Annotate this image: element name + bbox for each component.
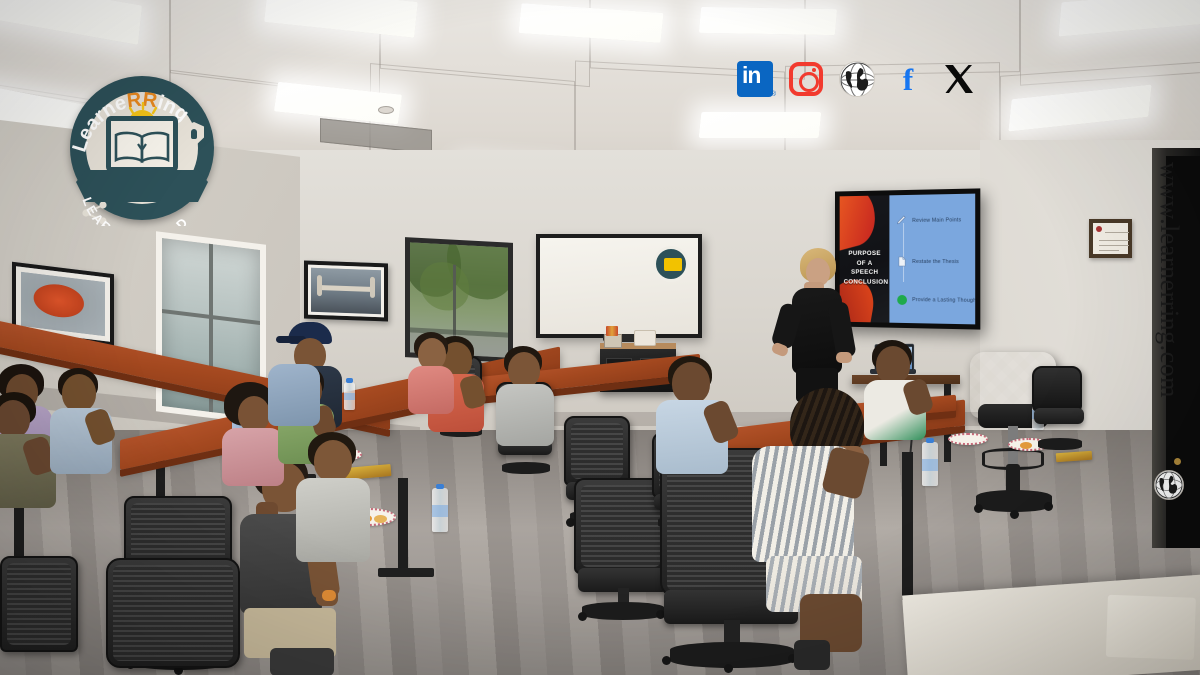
slide-bullet-text: Review Main Points (912, 217, 961, 224)
smoke-detector-icon (378, 106, 394, 114)
whiteboard (536, 234, 702, 338)
mesh-task-chair[interactable] (1030, 366, 1088, 464)
table-leg (398, 478, 408, 574)
student (494, 346, 558, 450)
slide-bullet-text: Restate the Thesis (912, 259, 959, 265)
linkedin-icon[interactable]: ® (735, 59, 775, 99)
website-url-text: www.learnerring.com (1154, 162, 1184, 472)
instagram-icon[interactable] (786, 59, 826, 99)
logo-tagline-ribbon: LEARN TO LEAD (74, 168, 210, 226)
mesh-task-chair[interactable] (0, 556, 90, 675)
slide-bullet-text: Provide a Lasting Thought (912, 297, 978, 304)
social-media-bar: ® f (735, 55, 990, 103)
open-book-icon (114, 130, 170, 164)
slide-bullet: Provide a Lasting Thought (896, 295, 969, 307)
water-bottle (432, 488, 448, 532)
tissue-box (634, 330, 656, 346)
pencil-icon (896, 215, 907, 226)
x-glyph (943, 63, 975, 95)
presenter (770, 248, 860, 398)
x-twitter-icon[interactable] (939, 59, 979, 99)
globe-website-icon[interactable] (837, 59, 877, 99)
framed-certificate (1089, 219, 1132, 258)
pencil-cup (606, 326, 618, 336)
website-url-decal: www.learnerring.com (1146, 170, 1192, 480)
table-foot (378, 568, 434, 577)
student (48, 368, 118, 480)
learnerring-logo-sticker (653, 246, 689, 282)
table-leg (902, 452, 913, 600)
facebook-icon[interactable]: f (888, 59, 928, 99)
slide-bullets-panel: Review Main Points Restate the Thesis Pr… (890, 194, 975, 325)
classroom-photo: PURPOSE OF A SPEECH CONCLUSION Review Ma… (0, 0, 1200, 675)
supplies-caddy (604, 334, 622, 348)
student (268, 338, 324, 428)
student (652, 356, 738, 488)
paper-plate (948, 433, 988, 445)
student (406, 332, 458, 416)
facebook-f-glyph: f (903, 64, 913, 95)
slide-bullet: Restate the Thesis (896, 256, 969, 267)
slide-bullet: Review Main Points (896, 215, 969, 227)
student (862, 340, 934, 444)
ceiling-light (699, 112, 822, 138)
ceiling-light (699, 7, 837, 35)
framed-osprey-photo (304, 261, 388, 322)
globe-icon (1154, 470, 1184, 500)
student (288, 432, 378, 572)
green-dot-icon (896, 295, 907, 306)
water-bottle (922, 442, 938, 486)
learnerring-logo: LearneRRing (62, 72, 222, 230)
document-icon (896, 256, 907, 267)
